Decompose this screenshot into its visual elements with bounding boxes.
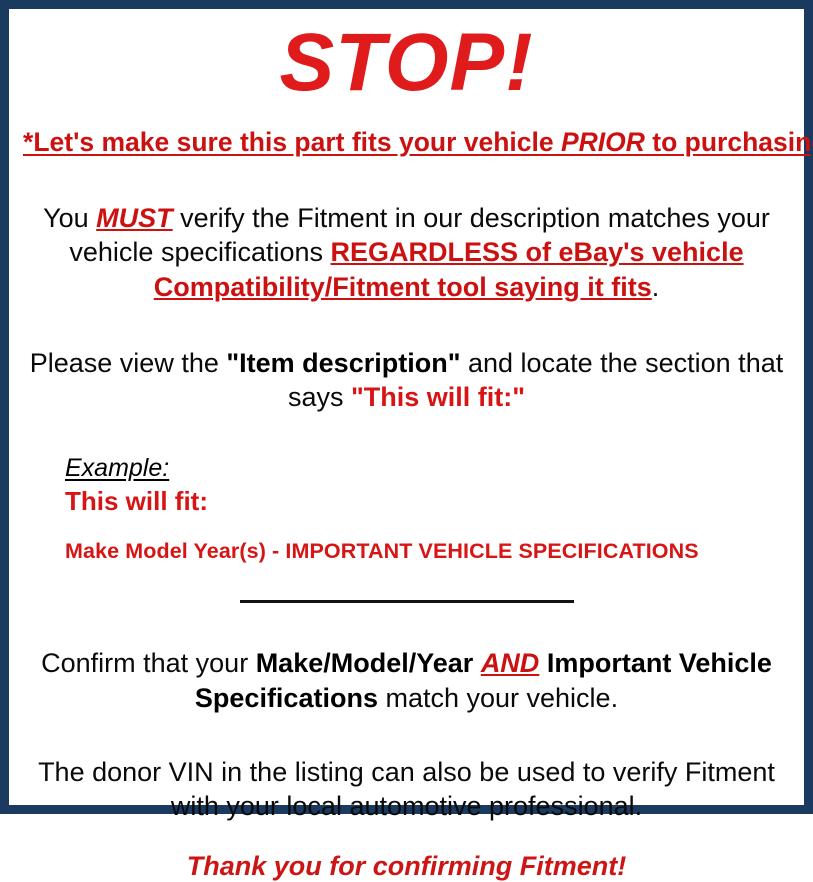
section-divider bbox=[240, 600, 574, 603]
must-seg-3: . bbox=[652, 272, 660, 302]
confirm-seg-1: Confirm that your bbox=[41, 648, 256, 678]
confirm-paragraph: Confirm that your Make/Model/Year AND Im… bbox=[23, 610, 790, 715]
confirm-seg-4: match your vehicle. bbox=[378, 683, 618, 713]
subheadline-text-after: to purchasing* bbox=[645, 127, 813, 157]
this-will-fit-emphasis: "This will fit:" bbox=[351, 382, 525, 412]
page-title: STOP! bbox=[23, 9, 790, 105]
confirm-seg-2 bbox=[473, 648, 481, 678]
and-emphasis: AND bbox=[481, 648, 540, 678]
donor-vin-paragraph: The donor VIN in the listing can also be… bbox=[23, 715, 790, 824]
example-block: Example: This will fit: Make Model Year(… bbox=[23, 415, 790, 565]
subheadline: *Let's make sure this part fits your veh… bbox=[23, 105, 790, 157]
item-description-paragraph: Please view the "Item description" and l… bbox=[23, 304, 790, 415]
item-description-emphasis: "Item description" bbox=[226, 348, 460, 378]
example-label: Example: bbox=[65, 453, 169, 483]
must-emphasis: MUST bbox=[96, 203, 173, 233]
view-seg-1: Please view the bbox=[30, 348, 227, 378]
subheadline-text-before: *Let's make sure this part fits your veh… bbox=[23, 127, 561, 157]
confirm-seg-3 bbox=[539, 648, 547, 678]
must-verify-paragraph: You MUST verify the Fitment in our descr… bbox=[23, 157, 790, 304]
fitment-notice-card: STOP! *Let's make sure this part fits yo… bbox=[0, 0, 813, 814]
example-spec-line: Make Model Year(s) - IMPORTANT VEHICLE S… bbox=[65, 517, 790, 565]
divider-wrap bbox=[23, 564, 790, 610]
closing-thank-you: Thank you for confirming Fitment! bbox=[23, 824, 790, 882]
subheadline-emphasis-prior: PRIOR bbox=[561, 127, 645, 157]
example-label-row: Example: bbox=[65, 453, 790, 483]
example-fit-header: This will fit: bbox=[65, 483, 790, 517]
must-seg-1: You bbox=[43, 203, 96, 233]
notice-content: STOP! *Let's make sure this part fits yo… bbox=[9, 9, 804, 805]
make-model-year-emphasis: Make/Model/Year bbox=[256, 648, 474, 678]
